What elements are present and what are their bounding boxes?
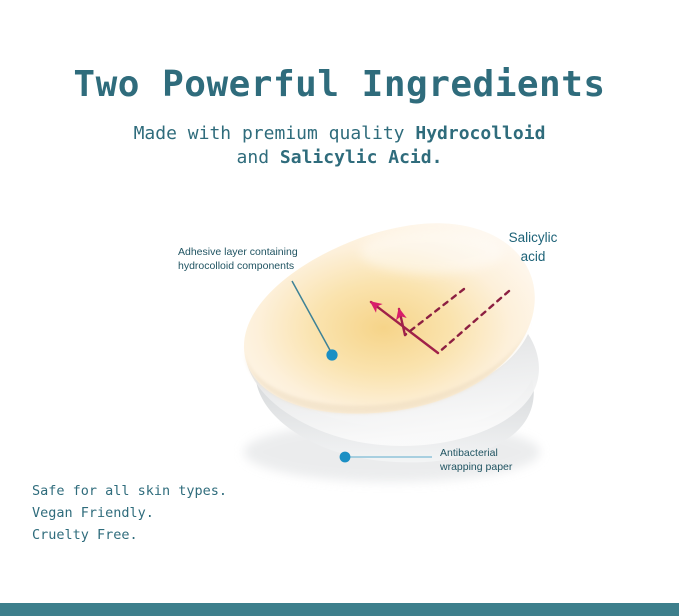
antibacterial-leader-dot (340, 452, 351, 463)
claim-item: Vegan Friendly. (32, 502, 227, 524)
annotation-antibacterial-line-1: Antibacterial (440, 446, 512, 460)
annotation-salicylic-line-1: Salicylic (487, 228, 579, 247)
annotation-antibacterial-paper: Antibacterial wrapping paper (440, 446, 512, 474)
annotation-adhesive-line-2: hydrocolloid components (178, 259, 298, 273)
product-claims-list: Safe for all skin types. Vegan Friendly.… (32, 480, 227, 546)
bottom-brand-bar (0, 603, 679, 616)
annotation-salicylic-acid: Salicylic acid (487, 228, 579, 266)
annotation-adhesive-layer: Adhesive layer containing hydrocolloid c… (178, 245, 298, 273)
annotation-adhesive-line-1: Adhesive layer containing (178, 245, 298, 259)
patch-highlight (360, 230, 504, 274)
annotation-antibacterial-line-2: wrapping paper (440, 460, 512, 474)
claim-item: Safe for all skin types. (32, 480, 227, 502)
claim-item: Cruelty Free. (32, 524, 227, 546)
annotation-salicylic-line-2: acid (487, 247, 579, 266)
product-infographic: Two Powerful Ingredients Made with premi… (0, 0, 679, 616)
adhesive-leader-dot (326, 349, 337, 360)
